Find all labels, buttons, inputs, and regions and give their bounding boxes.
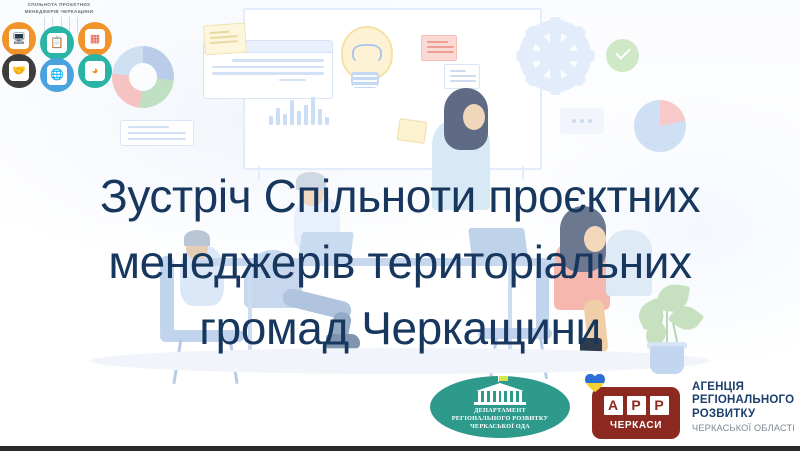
donut-chart-illustration: [112, 46, 174, 108]
handshake-icon: 🤝: [2, 54, 36, 88]
agency-subtitle: ЧЕРКАСЬКОЇ ОБЛАСТІ: [692, 423, 795, 433]
title-line-1: Зустріч Спільноти проєктних: [18, 163, 782, 229]
department-logo-text: ДЕПАРТАМЕНТ РЕГІОНАЛЬНОГО РОЗВИТКУ ЧЕРКА…: [452, 407, 549, 431]
agency-block: АГЕНЦІЯ РЕГІОНАЛЬНОГО РОЗВИТКУ ЧЕРКАСЬКО…: [692, 381, 795, 434]
mini-card-illustration: [120, 120, 194, 146]
arr-letter-2: Р: [627, 396, 646, 415]
pie-chart-icon: ◕: [78, 54, 112, 88]
line: [128, 132, 186, 134]
arr-logo[interactable]: А Р Р ЧЕРКАСИ: [584, 375, 680, 439]
gear-icon: [519, 20, 591, 92]
title-line-3: громад Черкащини: [18, 295, 782, 361]
line: [128, 138, 186, 140]
ukraine-flag-heart-icon: [584, 373, 606, 393]
title-line-2: менеджерів територіальних: [18, 229, 782, 295]
bulb-base: [351, 72, 379, 88]
arr-letter-3: Р: [650, 396, 669, 415]
page-title: Зустріч Спільноти проєктних менеджерів т…: [0, 163, 800, 361]
community-logo-title: СПІЛЬНОТА ПРОЄКТНИХ МЕНЕДЖЕРІВ ЧЕРКАЩИНИ: [0, 2, 118, 15]
globe-icon: 🌐: [40, 58, 74, 92]
dots-card-illustration: [560, 108, 604, 134]
arr-letter-1: А: [604, 396, 623, 415]
agency-title: АГЕНЦІЯ РЕГІОНАЛЬНОГО РОЗВИТКУ: [692, 381, 795, 422]
line: [128, 126, 169, 128]
community-logo[interactable]: СПІЛЬНОТА ПРОЄКТНИХ МЕНЕДЖЕРІВ ЧЕРКАЩИНИ…: [0, 0, 118, 92]
line: [212, 72, 324, 75]
footer-logo-row: ДЕПАРТАМЕНТ РЕГІОНАЛЬНОГО РОЗВИТКУ ЧЕРКА…: [430, 374, 800, 440]
bottom-bar: [0, 446, 800, 451]
government-building-icon: [472, 381, 528, 403]
bar-chart-illustration: [269, 95, 329, 125]
bulb-filament: [352, 44, 382, 64]
community-logo-icon-cluster: 🖥 📋 ▦ 🤝 🌐 ◕: [2, 22, 116, 90]
sticky-note-white: [444, 64, 480, 89]
line: [279, 79, 306, 82]
arr-logo-box: А Р Р ЧЕРКАСИ: [592, 387, 680, 439]
department-logo[interactable]: ДЕПАРТАМЕНТ РЕГІОНАЛЬНОГО РОЗВИТКУ ЧЕРКА…: [430, 376, 570, 438]
arr-letters: А Р Р: [604, 396, 669, 415]
apps-grid-icon: ▦: [78, 22, 112, 56]
arr-city-label: ЧЕРКАСИ: [610, 420, 662, 431]
sticky-note-pink: [421, 35, 457, 61]
browser-content-lines: [204, 53, 332, 91]
lightbulb-illustration: [337, 26, 393, 88]
check-circle-icon: [606, 39, 639, 72]
sticky-note-yellow-left: [203, 23, 247, 56]
pie-chart-illustration: [634, 100, 686, 152]
sticky-note-yellow-hand: [397, 118, 428, 144]
presentation-slide: СПІЛЬНОТА ПРОЄКТНИХ МЕНЕДЖЕРІВ ЧЕРКАЩИНИ…: [0, 0, 800, 451]
line: [212, 66, 324, 69]
line: [232, 59, 324, 62]
notepad-icon: 📋: [40, 26, 74, 60]
monitor-icon: 🖥: [2, 22, 36, 56]
